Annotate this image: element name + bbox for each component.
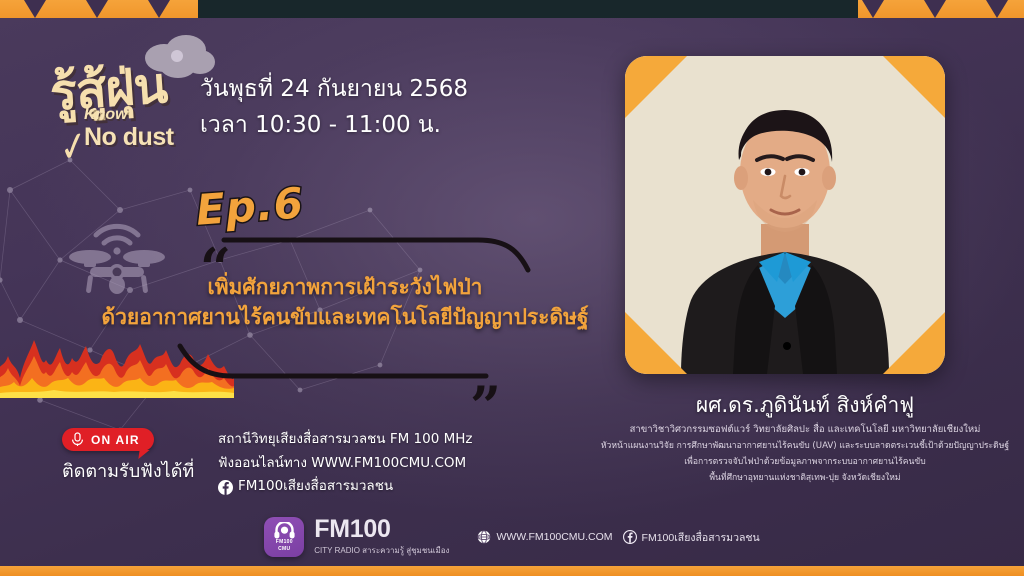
quote-swoosh-top-decoration [198,228,538,274]
quote-close-mark: ” [470,390,501,422]
station-info-block: สถานีวิทยุเสียงสื่อสารมวลชน FM 100 MHz ฟ… [218,428,472,499]
speaker-affiliation: สาขาวิชาวิศวกรรมซอฟต์แวร์ วิทยาลัยศิลปะ … [585,421,1024,439]
broadcast-date: วันพุธที่ 24 กันยายน 2568 [200,72,468,108]
station-online: ฟังออนไลน์ทาง WWW.FM100CMU.COM [218,452,472,476]
on-air-block: ON AIR ติดตามรับฟังได้ที่ [62,428,194,485]
speaker-name: ผศ.ดร.ภูดินันท์ สิงห์คำฟู [585,392,1024,419]
fm100-brand-block: FM100 CITY RADIO สาระความรู้ สู่ชุมชนเมื… [314,517,449,557]
facebook-icon[interactable] [623,530,637,544]
station-facebook[interactable]: FM100เสียงสื่อสารมวลชน [218,475,472,499]
footer-website-text: WWW.FM100CMU.COM [496,531,612,543]
fm100-logo-line2: CMU [278,546,290,552]
logo-know-text: Know [84,106,128,124]
speaker-role: หัวหน้าแผนงานวิจัย การศึกษาพัฒนาอากาศยาน… [585,439,1024,455]
photo-corner-top-left [625,56,687,118]
on-air-label: ON AIR [91,433,140,447]
footer-website[interactable]: WWW.FM100CMU.COM [477,530,612,544]
topic-title: เพิ่มศักยภาพการเฝ้าระวังไฟป่า ด้วยอากาศย… [60,272,630,333]
photo-corner-bottom-right [883,312,945,374]
headphones-icon [274,522,295,539]
top-notch-2 [86,0,108,18]
episode-badge: Ep.6 [194,178,305,234]
top-notch-3 [148,0,170,18]
bottom-decor-bar [0,566,1024,576]
on-air-badge: ON AIR [62,428,154,451]
globe-icon[interactable] [477,530,491,544]
top-notch-6 [986,0,1008,18]
footer-facebook-text: FM100เสียงสื่อสารมวลชน [642,529,760,546]
quote-swoosh-bottom-decoration [172,340,512,390]
program-logo: รู้สู้ฝุ่น ✓ Know No dust [42,28,212,168]
footer-bar: FM100 CMU FM100 CITY RADIO สาระความรู้ ส… [0,508,1024,566]
poster-canvas: รู้สู้ฝุ่น ✓ Know No dust วันพุธที่ 24 ก… [0,0,1024,576]
speaker-info-block: ผศ.ดร.ภูดินันท์ สิงห์คำฟู สาขาวิชาวิศวกร… [585,392,1024,487]
follow-label: ติดตามรับฟังได้ที่ [62,456,194,485]
station-frequency-text: สถานีวิทยุเสียงสื่อสารมวลชน FM 100 MHz [218,428,472,452]
photo-corner-top-right [883,56,945,118]
broadcast-time: เวลา 10:30 - 11:00 น. [200,108,468,144]
facebook-icon[interactable] [218,480,233,495]
fm100-logo-text: FM100 CMU [276,539,293,552]
speaker-purpose: เพื่อการตรวจจับไฟป่าด้วยข้อมูลภาพจากระบบ… [585,455,1024,471]
speaker-credentials: สาขาวิชาวิศวกรรมซอฟต์แวร์ วิทยาลัยศิลปะ … [585,421,1024,486]
station-online-text: ฟังออนไลน์ทาง WWW.FM100CMU.COM [218,452,466,476]
microphone-icon [71,432,84,447]
station-frequency: สถานีวิทยุเสียงสื่อสารมวลชน FM 100 MHz [218,428,472,452]
schedule-block: วันพุธที่ 24 กันยายน 2568 เวลา 10:30 - 1… [200,72,468,143]
topic-line-2: ด้วยอากาศยานไร้คนขับและเทคโนโลยีปัญญาประ… [60,302,630,332]
top-notch-4 [862,0,884,18]
logo-nodust-text: No dust [84,123,174,152]
fm100-brand-name: FM100 [314,517,449,542]
photo-corner-bottom-left [625,312,687,374]
station-facebook-text: FM100เสียงสื่อสารมวลชน [238,475,393,499]
footer-facebook[interactable]: FM100เสียงสื่อสารมวลชน [623,529,760,546]
top-decor-bar-center [198,0,858,18]
top-notch-5 [924,0,946,18]
speaker-study-area: พื้นที่ศึกษาอุทยานแห่งชาติสุเทพ-ปุย จังห… [585,471,1024,487]
fm100-tagline: CITY RADIO สาระความรู้ สู่ชุมชนเมือง [314,544,449,557]
speaker-photo-frame [625,56,945,374]
fm100-logo-line1: FM100 [276,539,293,545]
topic-line-1: เพิ่มศักยภาพการเฝ้าระวังไฟป่า [60,272,630,302]
top-notch-1 [24,0,46,18]
fm100-logo-icon: FM100 CMU [264,517,304,557]
